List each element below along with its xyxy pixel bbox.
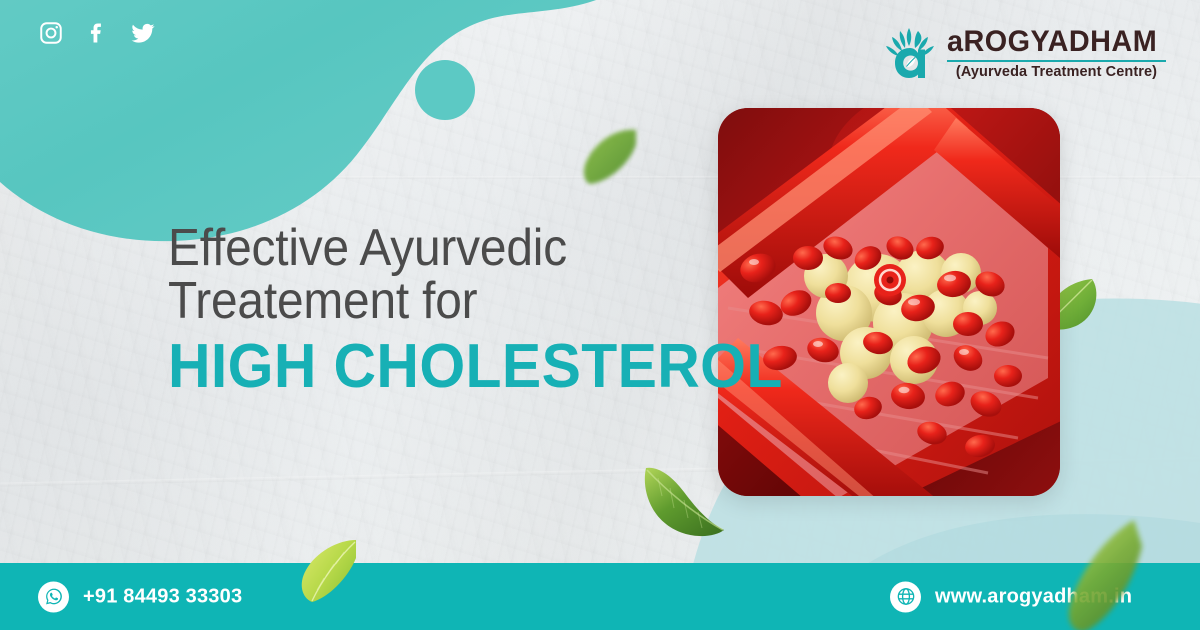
facebook-icon[interactable] (84, 20, 110, 46)
social-links (38, 20, 156, 46)
twitter-icon[interactable] (130, 20, 156, 46)
phone-number: +91 84493 33303 (83, 585, 242, 608)
website-url: www.arogyadham.in (935, 585, 1132, 608)
logo-divider (947, 60, 1166, 62)
globe-icon (890, 581, 921, 612)
footer-website[interactable]: www.arogyadham.in (890, 581, 1132, 612)
contact-footer: +91 84493 33303 www.arogyadham.in (0, 563, 1200, 630)
whatsapp-icon (38, 581, 69, 612)
arogyadham-leaf-a-icon (882, 20, 938, 86)
logo-wordmark: aROGYADHAM (947, 27, 1157, 57)
teal-circle-shape (415, 60, 475, 120)
headline-line-2: Treatement for (168, 275, 763, 328)
headline-line-1: Effective Ayurvedic (168, 222, 763, 275)
instagram-icon[interactable] (38, 20, 64, 46)
logo-tagline: (Ayurveda Treatment Centre) (947, 65, 1166, 80)
headline-block: Effective Ayurvedic Treatement for HIGH … (168, 222, 815, 399)
promo-banner: aROGYADHAM (Ayurveda Treatment Centre) E… (0, 0, 1200, 630)
footer-phone[interactable]: +91 84493 33303 (38, 581, 242, 612)
headline-accent: HIGH CHOLESTEROL (168, 334, 783, 399)
brand-logo[interactable]: aROGYADHAM (Ayurveda Treatment Centre) (882, 20, 1166, 86)
